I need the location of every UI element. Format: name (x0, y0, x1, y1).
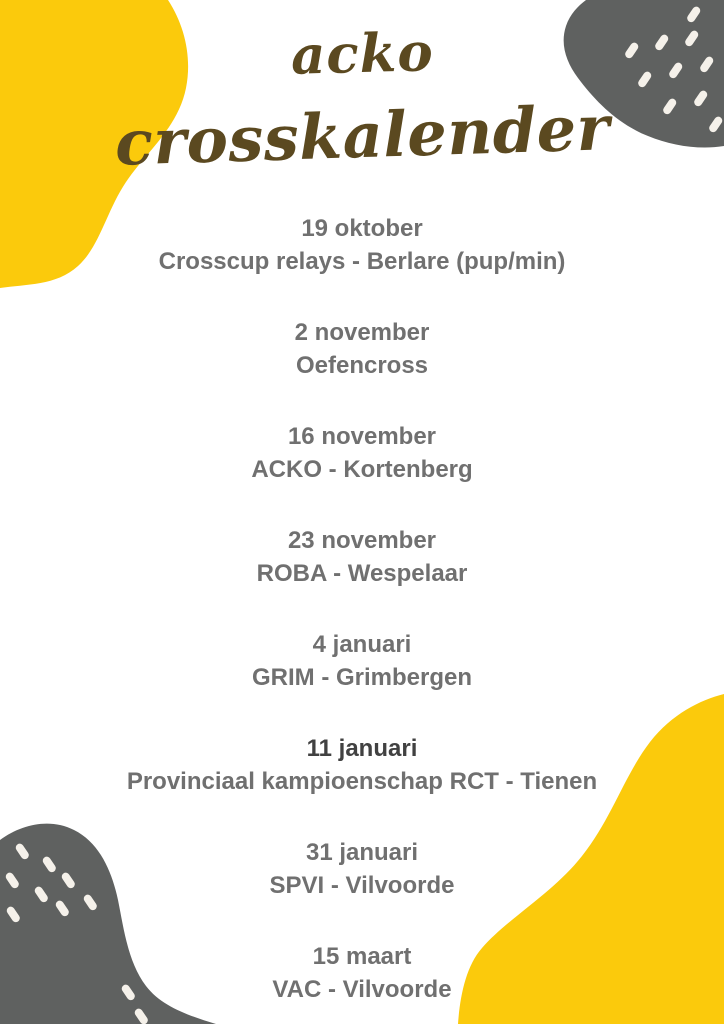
entry-date: 11 januari (0, 732, 724, 765)
entry-date: 2 november (0, 316, 724, 349)
poster-canvas: acko crosskalender 19 oktober Crosscup r… (0, 0, 724, 1024)
poster-title: acko crosskalender (0, 0, 724, 167)
schedule-entry: 19 oktober Crosscup relays - Berlare (pu… (0, 212, 724, 278)
entry-date: 4 januari (0, 628, 724, 661)
schedule-entry: 23 november ROBA - Wespelaar (0, 524, 724, 590)
schedule-entry: 2 november Oefencross (0, 316, 724, 382)
schedule-entry: 31 januari SPVI - Vilvoorde (0, 836, 724, 902)
entry-date: 15 maart (0, 940, 724, 973)
entry-event: Provinciaal kampioenschap RCT - Tienen (0, 765, 724, 798)
schedule-entry: 11 januari Provinciaal kampioenschap RCT… (0, 732, 724, 798)
schedule-list: 19 oktober Crosscup relays - Berlare (pu… (0, 212, 724, 1006)
entry-event: VAC - Vilvoorde (0, 973, 724, 1006)
entry-date: 23 november (0, 524, 724, 557)
entry-event: ROBA - Wespelaar (0, 557, 724, 590)
entry-event: GRIM - Grimbergen (0, 661, 724, 694)
entry-date: 31 januari (0, 836, 724, 869)
schedule-entry: 15 maart VAC - Vilvoorde (0, 940, 724, 1006)
entry-date: 16 november (0, 420, 724, 453)
entry-event: Oefencross (0, 349, 724, 382)
schedule-entry: 4 januari GRIM - Grimbergen (0, 628, 724, 694)
entry-event: SPVI - Vilvoorde (0, 869, 724, 902)
schedule-entry: 16 november ACKO - Kortenberg (0, 420, 724, 486)
entry-event: Crosscup relays - Berlare (pup/min) (0, 245, 724, 278)
entry-event: ACKO - Kortenberg (0, 453, 724, 486)
entry-date: 19 oktober (0, 212, 724, 245)
